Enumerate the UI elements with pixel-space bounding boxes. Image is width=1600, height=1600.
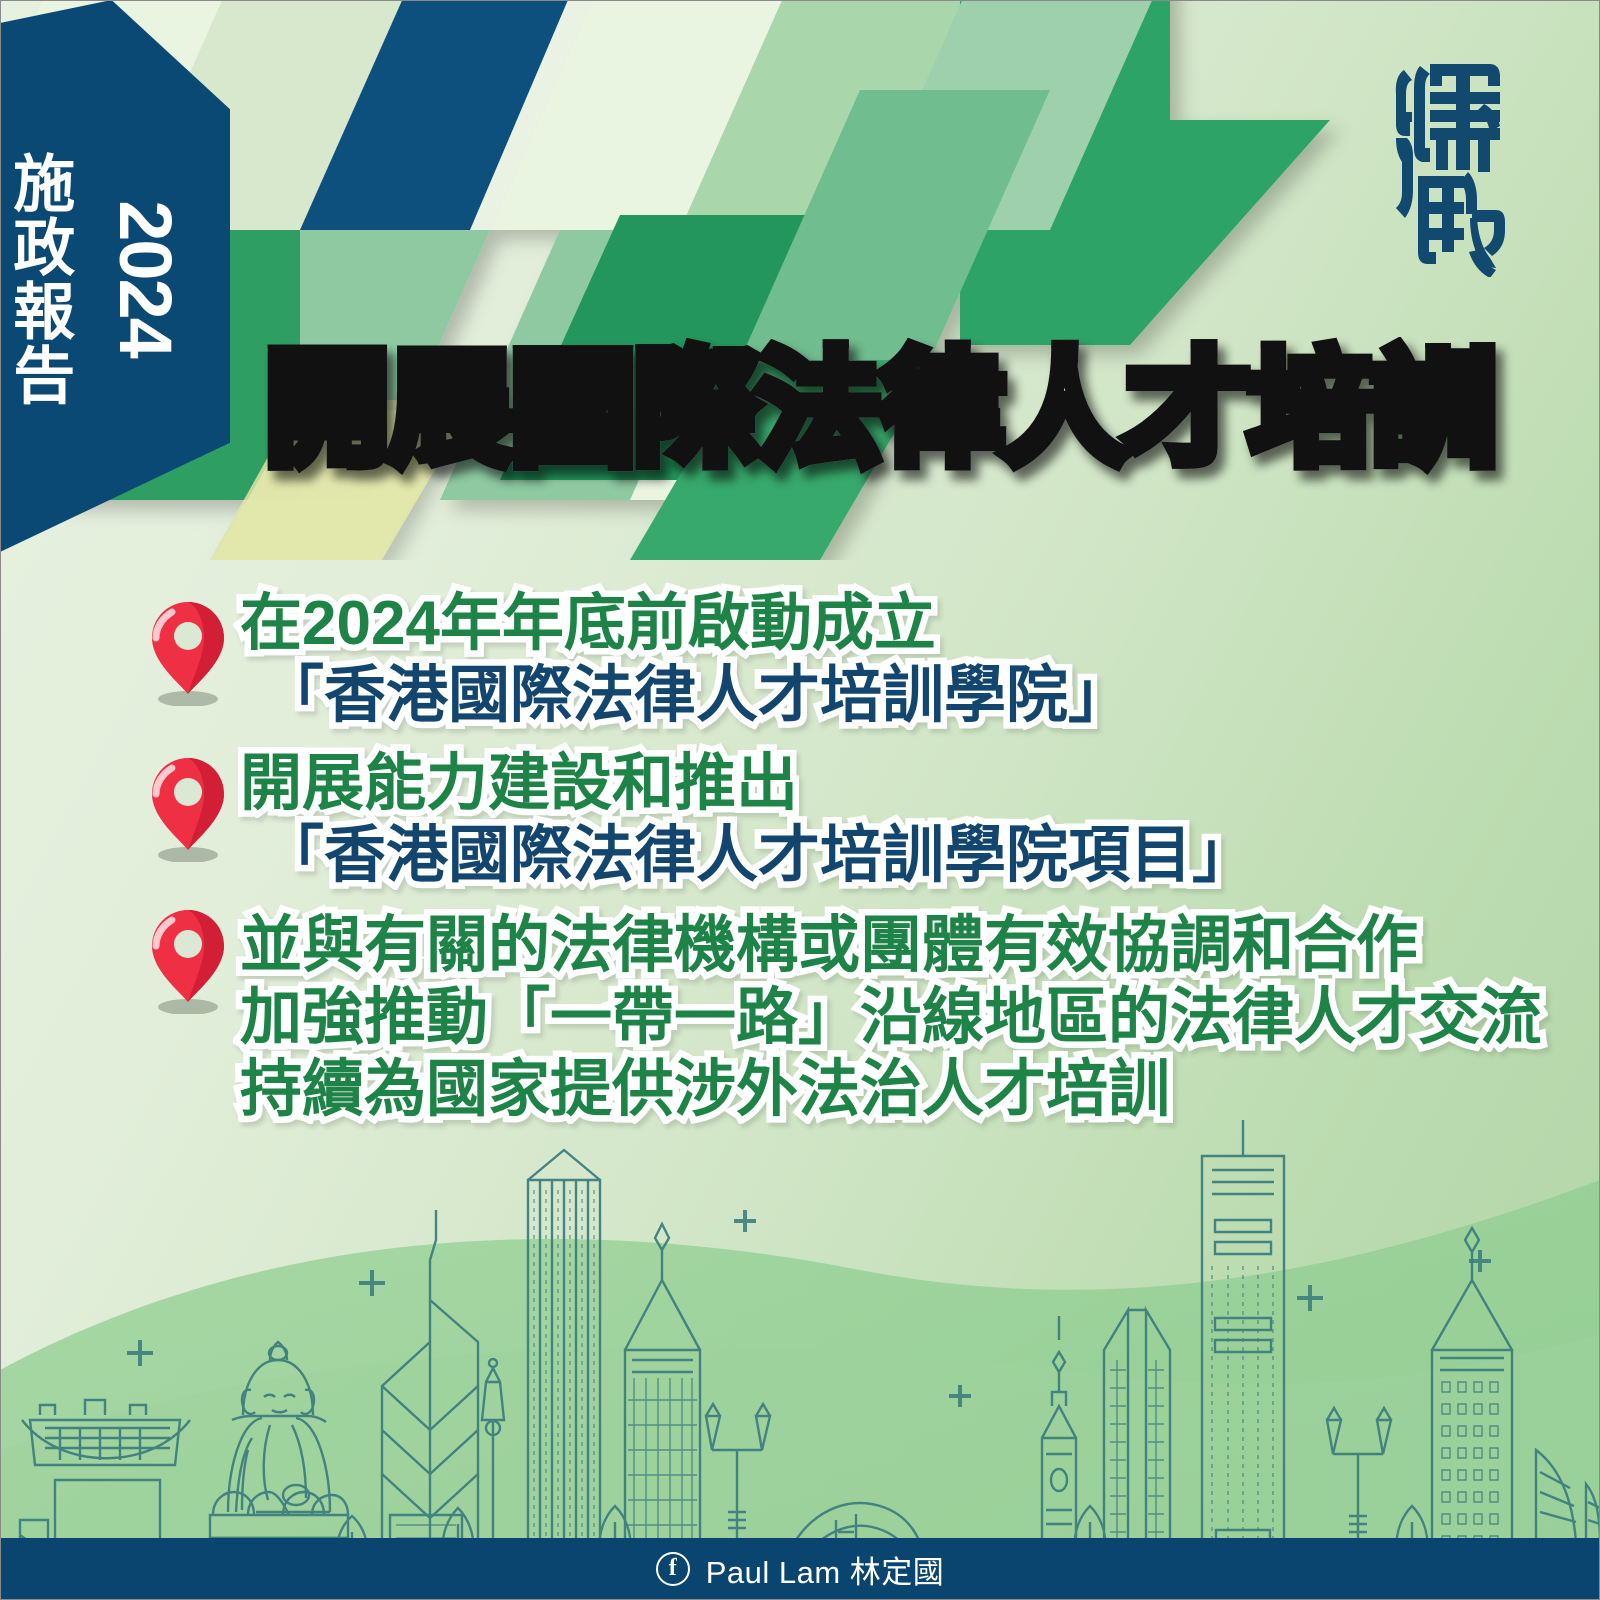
poster-canvas: 2024 施政報告: [0, 0, 1600, 1600]
bullet-line: 「香港國際法律人才培訓學院項目」: [140, 820, 1540, 892]
report-title-vertical: 施政報告: [6, 151, 69, 407]
bullet-line: 「香港國際法律人才培訓學院」: [140, 660, 1540, 732]
bullet-line: 開展能力建設和推出: [140, 748, 1540, 820]
list-item: 並與有關的法律機構或團體有效協調和合作 加強推動「一帶一路」沿線地區的法律人才交…: [140, 910, 1540, 1150]
page-title-text: 開展國際法律人才培訓: [265, 348, 1495, 472]
flag-text-group: 2024 施政報告: [0, 0, 230, 575]
bullet-line: 在2024年年底前啟動成立: [140, 588, 1540, 660]
bullet-line: 並與有關的法律機構或團體有效協調和合作: [140, 910, 1540, 982]
bullet-list: 在2024年年底前啟動成立 「香港國際法律人才培訓學院」 開展能力建設和推出 「…: [140, 588, 1540, 1150]
hong-kong-skyline-illustration: [0, 1120, 1600, 1600]
report-flag-banner: 2024 施政報告: [0, 0, 230, 575]
bullet-line: 加強推動「一帶一路」沿線地區的法律人才交流: [140, 982, 1540, 1054]
report-year: 2024: [103, 200, 188, 357]
bullet-line: 持續為國家提供涉外法治人才培訓: [140, 1054, 1540, 1126]
doj-seal-logo: [1378, 52, 1508, 277]
footer-account-name: Paul Lam 林定國: [706, 1547, 945, 1592]
list-item: 開展能力建設和推出 「香港國際法律人才培訓學院項目」: [140, 748, 1540, 910]
facebook-icon[interactable]: f: [656, 1552, 690, 1586]
page-title: 開展國際法律人才培訓 開展國際法律人才培訓: [265, 330, 1545, 490]
footer-bar: f Paul Lam 林定國: [0, 1538, 1600, 1600]
list-item: 在2024年年底前啟動成立 「香港國際法律人才培訓學院」: [140, 588, 1540, 748]
